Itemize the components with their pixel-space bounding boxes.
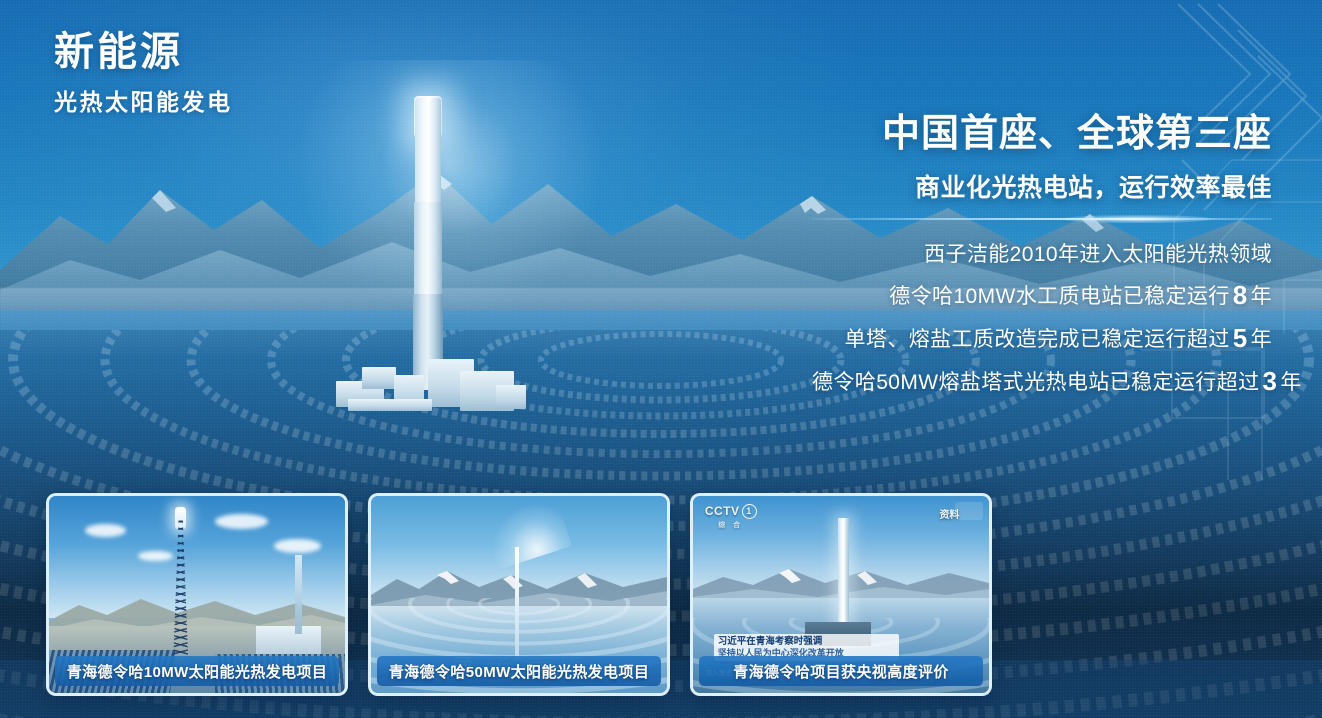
fact-text: 西子洁能2010年进入太阳能光热领域 xyxy=(924,243,1272,266)
cctv-channel-number: 1 xyxy=(742,504,757,519)
fact-prefix: 单塔、熔盐工质改造完成已稳定运行超过 xyxy=(845,328,1230,351)
project-card-2[interactable]: 西 子 洁 能 青海德令哈50MW太阳能光热发电项目 xyxy=(368,493,670,696)
fact-prefix: 德令哈50MW熔盐塔式光热电站已稳定运行超过 xyxy=(812,371,1259,394)
title-block: 新能源 光热太阳能发电 xyxy=(54,30,233,117)
fact-item-3: 单塔、熔盐工质改造完成已稳定运行超过5年 xyxy=(812,317,1272,360)
headline-block: 中国首座、全球第三座 商业化光热电站，运行效率最佳 西子洁能2010年进入太阳能… xyxy=(812,112,1272,403)
project-card-1[interactable]: 青海德令哈10MW太阳能光热发电项目 xyxy=(46,493,348,696)
headline-divider xyxy=(812,218,1272,220)
project-caption-1: 青海德令哈10MW太阳能光热发电项目 xyxy=(55,656,339,686)
project-caption-2: 青海德令哈50MW太阳能光热发电项目 xyxy=(377,656,661,686)
fact-number: 5 xyxy=(1230,323,1251,353)
project-caption-3: 青海德令哈项目获央视高度评价 xyxy=(699,656,983,686)
page-subtitle: 光热太阳能发电 xyxy=(54,83,233,117)
cctv-brand-text: CCTV xyxy=(705,504,740,518)
tower-shaft-upper xyxy=(415,98,441,206)
project-thumbnail-row: 青海德令哈10MW太阳能光热发电项目 xyxy=(46,493,992,696)
solar-power-tower xyxy=(412,98,444,390)
fact-number: 8 xyxy=(1230,280,1251,310)
fact-item-2: 德令哈10MW水工质电站已稳定运行8年 xyxy=(812,274,1272,317)
cctv-channel-name: 综 合 xyxy=(718,520,743,530)
project-card-3[interactable]: CCTV 1 综 合 资料 习近平在青海考察时强调 坚持以人民为中心深化改革开放… xyxy=(690,493,992,696)
headline: 中国首座、全球第三座 xyxy=(812,112,1272,158)
page-title: 新能源 xyxy=(54,30,233,75)
cctv-archive-badge: 资料 xyxy=(939,506,959,521)
fact-number: 3 xyxy=(1259,366,1280,396)
ticker-headline: 习近平在青海考察时强调 xyxy=(718,636,896,648)
fact-prefix: 德令哈10MW水工质电站已稳定运行 xyxy=(889,285,1229,308)
facts-list: 西子洁能2010年进入太阳能光热领域 德令哈10MW水工质电站已稳定运行8年 单… xyxy=(812,236,1272,403)
fact-item-1: 西子洁能2010年进入太阳能光热领域 xyxy=(812,236,1272,274)
cctv-channel-logo: CCTV 1 综 合 xyxy=(705,504,757,530)
presentation-slide: 新能源 光热太阳能发电 中国首座、全球第三座 商业化光热电站，运行效率最佳 西子… xyxy=(0,0,1322,718)
power-block-buildings xyxy=(336,355,526,415)
salt-tower-icon xyxy=(515,547,520,661)
fact-item-4: 德令哈50MW熔盐塔式光热电站已稳定运行超过3年 xyxy=(812,360,1272,403)
fact-suffix: 年 xyxy=(1251,285,1272,308)
lattice-tower-icon xyxy=(173,520,188,658)
fact-suffix: 年 xyxy=(1280,371,1301,394)
subheadline: 商业化光热电站，运行效率最佳 xyxy=(812,168,1272,204)
tower-shaft-middle xyxy=(414,202,442,298)
fact-suffix: 年 xyxy=(1251,328,1272,351)
